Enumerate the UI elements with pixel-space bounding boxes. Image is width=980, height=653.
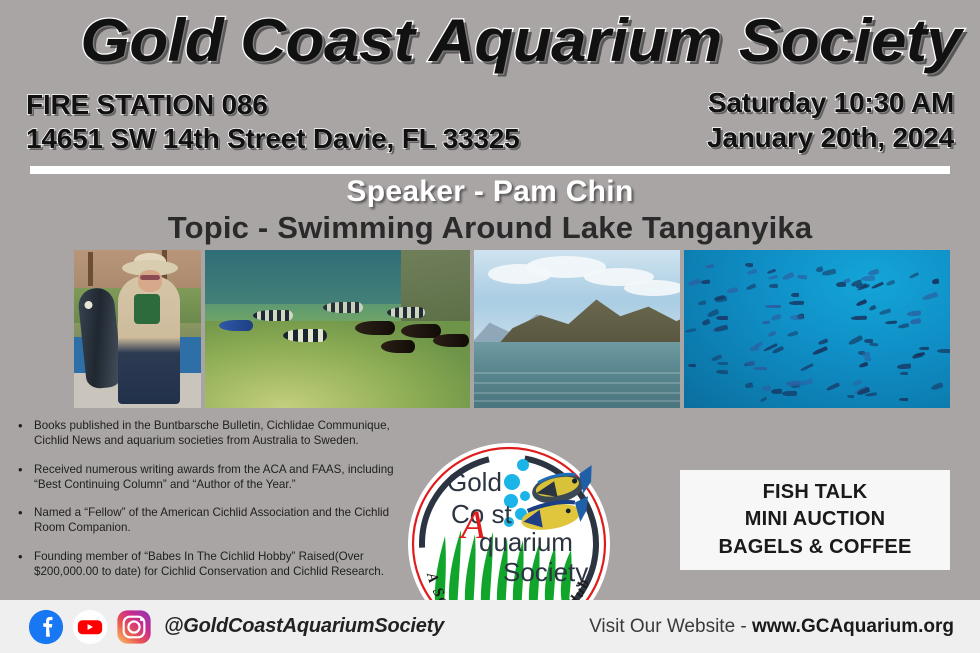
social-handle: @GoldCoastAquariumSociety [164,615,444,638]
event-time: Saturday 10:30 AM [707,86,954,121]
agenda-item-mini-auction: MINI AUCTION [745,507,886,533]
flyer-footer: @GoldCoastAquariumSociety Visit Our Webs… [0,600,980,653]
venue-name: FIRE STATION 086 [26,88,519,122]
agenda-item-fish-talk: FISH TALK [763,480,868,506]
photo-strip [74,250,950,408]
photo-school-of-fish [684,250,950,408]
website-prefix: Visit Our Website - [589,616,752,637]
website-line[interactable]: Visit Our Website - www.GCAquarium.org [589,616,954,638]
social-links [28,609,152,645]
speaker-line: Speaker - Pam Chin [0,175,980,209]
agenda-box: FISH TALK MINI AUCTION BAGELS & COFFEE [680,470,950,570]
photo-speaker-with-fish [74,250,201,408]
flyer-header: Gold Coast Aquarium Society FIRE STATION… [0,0,980,160]
agenda-item-bagels-coffee: BAGELS & COFFEE [718,535,911,561]
photo-cichlids-on-rocks [205,250,471,408]
event-datetime-block: Saturday 10:30 AM January 20th, 2024 [707,86,954,155]
venue-address: 14651 SW 14th Street Davie, FL 33325 [26,122,519,156]
header-divider [30,166,950,174]
venue-block: FIRE STATION 086 14651 SW 14th Street Da… [26,88,519,156]
instagram-icon[interactable] [116,609,152,645]
list-item: Founding member of “Babes In The Cichlid… [16,549,416,580]
logo-line-gold: Gold [447,467,502,497]
logo-line-aquarium: quarium [479,527,573,557]
list-item: Named a “Fellow” of the American Cichlid… [16,505,416,536]
website-url[interactable]: www.GCAquarium.org [752,616,954,637]
list-item: Received numerous writing awards from th… [16,462,416,493]
facebook-icon[interactable] [28,609,64,645]
page-title: Gold Coast Aquarium Society [28,6,980,75]
youtube-icon[interactable] [72,609,108,645]
list-item: Books published in the Buntbarsche Bulle… [16,418,416,449]
bio-bullet-list: Books published in the Buntbarsche Bulle… [16,418,416,579]
speaker-bio: Books published in the Buntbarsche Bulle… [16,418,416,592]
photo-lake-tanganyika-shore [474,250,680,408]
logo-line-society: Society [503,557,588,587]
event-date: January 20th, 2024 [707,121,954,156]
topic-line: Topic - Swimming Around Lake Tanganyika [0,210,980,246]
